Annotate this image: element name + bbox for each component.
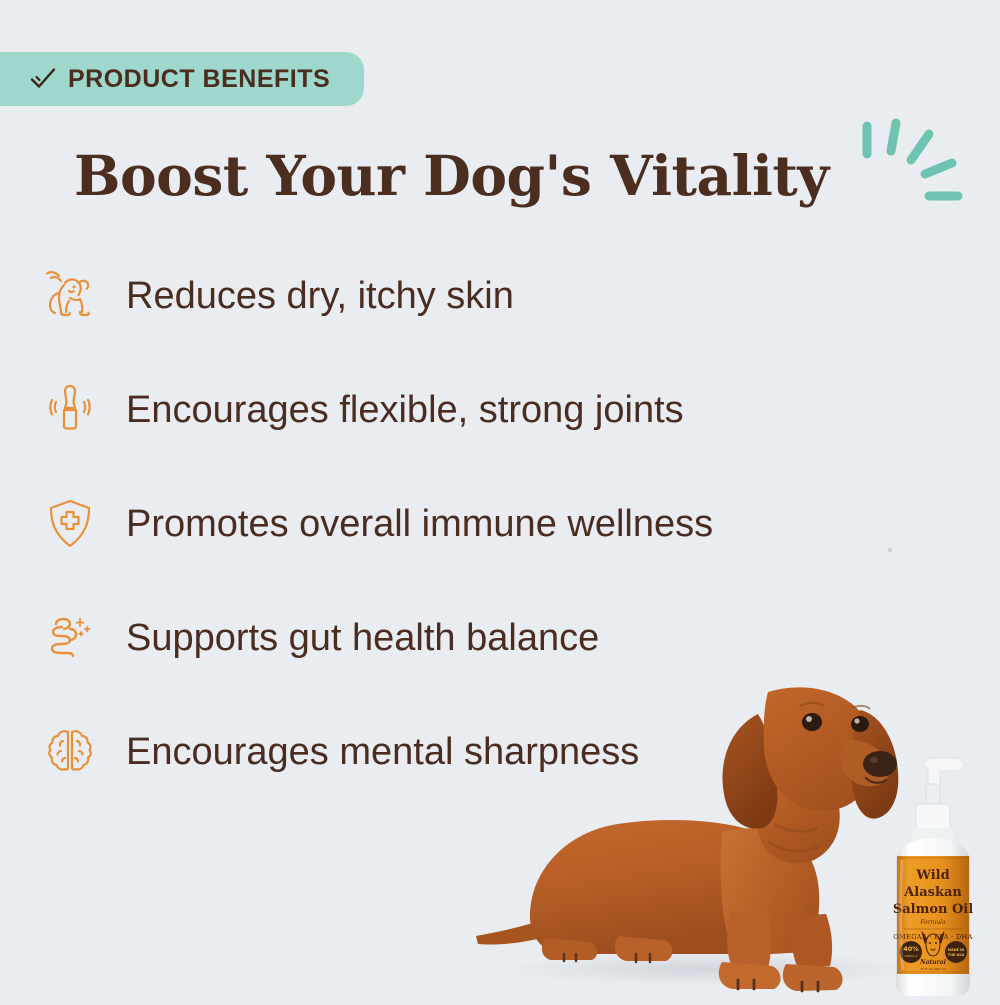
brain-icon: [34, 721, 106, 783]
product-benefits-badge: PRODUCT BENEFITS: [0, 52, 364, 106]
bottle-badge-right-sub: THE USA: [948, 953, 965, 957]
bottle-title-3: Salmon Oil: [893, 902, 973, 917]
bottle-title-2: Alaskan: [903, 885, 962, 900]
sparkle-burst-icon: [855, 118, 980, 233]
dachshund-dog-photo: [468, 636, 918, 1000]
joint-flex-icon: [34, 379, 106, 441]
badge-label: PRODUCT BENEFITS: [68, 65, 330, 94]
benefit-label: Reduces dry, itchy skin: [126, 275, 514, 318]
shield-cross-icon: [34, 493, 106, 555]
benefit-item: Promotes overall immune wellness: [0, 486, 880, 562]
bottle-badge-right: MADE IN: [948, 948, 965, 952]
bottle-emblem-label: Natural: [919, 959, 947, 966]
bottle-badge-left-sub: OMEGA-3: [904, 954, 917, 958]
check-icon: [30, 66, 56, 92]
bottle-fine-print: 32 FL OZ (946 ml): [920, 967, 945, 971]
page-title: Boost Your Dog's Vitality: [74, 143, 829, 208]
bottle-subtitle: Formula: [919, 919, 946, 926]
salmon-oil-bottle: Wild Alaskan Salmon Oil Formula OMEGAS ·…: [878, 752, 990, 1000]
made-in-usa-seal: MADE IN THE USA: [945, 941, 967, 963]
dog-scratching-icon: [34, 265, 106, 327]
benefit-item: Encourages flexible, strong joints: [0, 372, 880, 448]
bottle-title-1: Wild: [915, 868, 949, 883]
benefit-item: Reduces dry, itchy skin: [0, 258, 880, 334]
decorative-speck: [888, 548, 892, 552]
benefit-label: Encourages flexible, strong joints: [126, 389, 684, 432]
intestines-icon: [34, 607, 106, 669]
benefit-label: Promotes overall immune wellness: [126, 503, 713, 546]
bottle-badge-left: 40%: [903, 945, 919, 953]
